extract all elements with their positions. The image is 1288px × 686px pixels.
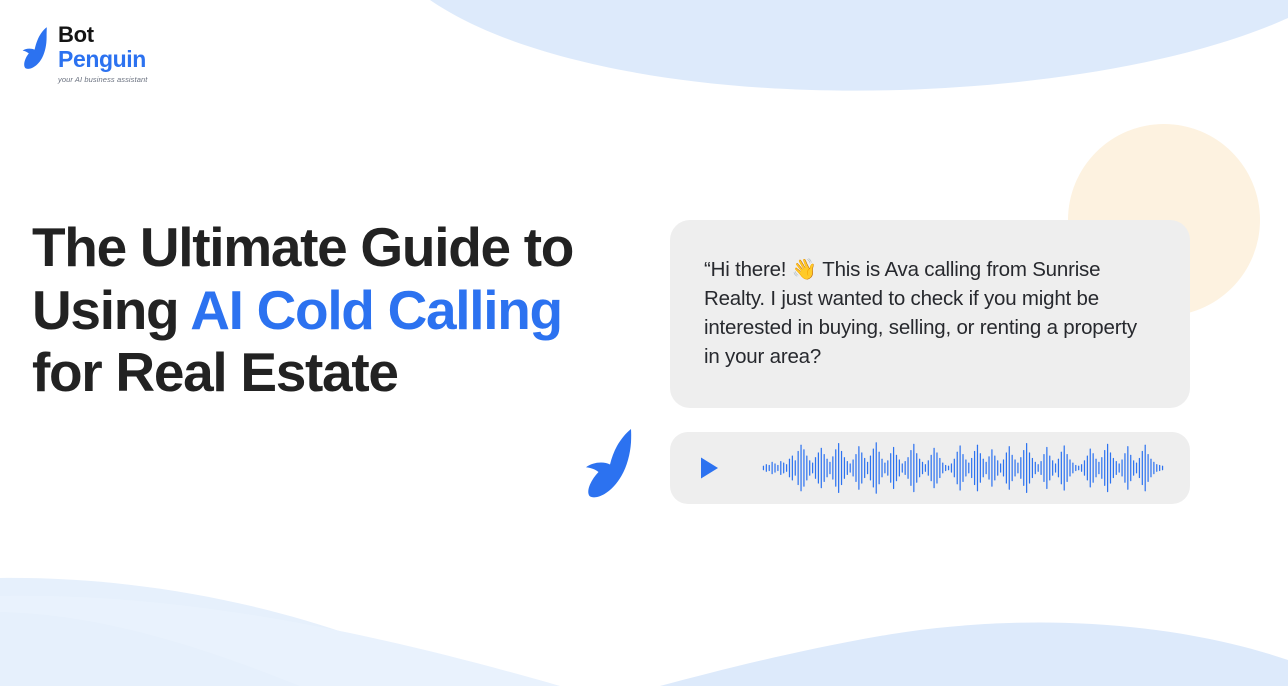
- logo-wordmark: Bot Penguin your AI business assistant: [58, 24, 147, 83]
- headline-segment-two: for Real Estate: [32, 341, 398, 403]
- logo-name-bot: Bot: [58, 24, 147, 46]
- top-wave-shape: [430, 0, 1288, 91]
- headline-accent-phrase: AI Cold Calling: [190, 279, 562, 341]
- transcript-quote-card: “Hi there! 👋 This is Ava calling from Su…: [670, 220, 1190, 408]
- bottom-right-wave-shape: [660, 623, 1288, 686]
- penguin-logo-icon: [22, 26, 52, 70]
- quote-text: “Hi there! 👋 This is Ava calling from Su…: [704, 256, 1156, 372]
- penguin-mascot-icon: [585, 427, 641, 499]
- bottom-center-wave-shape: [0, 596, 560, 686]
- page-canvas: Bot Penguin your AI business assistant T…: [0, 0, 1288, 686]
- play-triangle-icon: [698, 456, 720, 480]
- logo-tagline: your AI business assistant: [58, 76, 147, 84]
- logo-name-penguin: Penguin: [58, 47, 147, 71]
- audio-waveform-icon[interactable]: [762, 440, 1164, 496]
- bottom-left-wave-shape: [0, 578, 470, 686]
- brand-logo[interactable]: Bot Penguin your AI business assistant: [22, 24, 147, 83]
- page-title: The Ultimate Guide to Using AI Cold Call…: [32, 216, 592, 404]
- audio-player-card[interactable]: [670, 432, 1190, 504]
- play-button[interactable]: [698, 456, 720, 480]
